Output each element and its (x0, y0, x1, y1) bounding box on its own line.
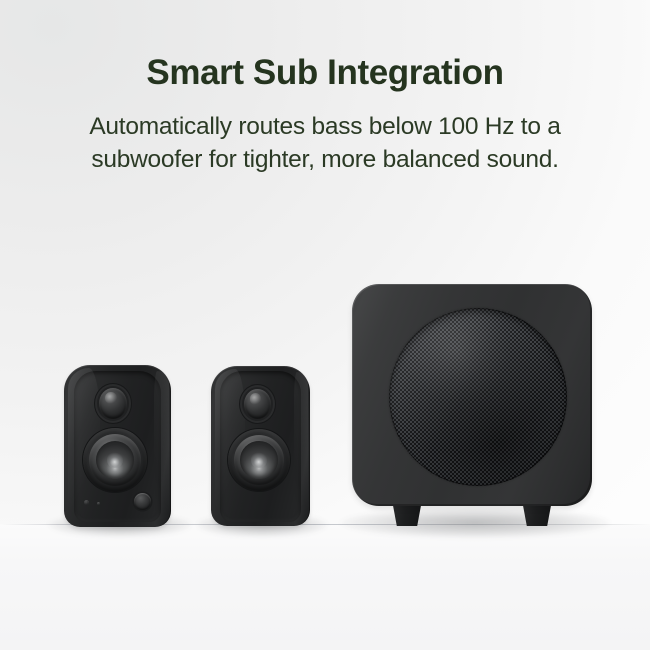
page-subtitle-line-1: Automatically routes bass below 100 Hz t… (18, 110, 632, 143)
product-feature-card: Smart Sub Integration Automatically rout… (0, 0, 650, 650)
right-satellite-speaker (211, 366, 310, 526)
left-speaker-tweeter (99, 388, 127, 419)
right-speaker-woofer (228, 429, 290, 491)
subwoofer-cabinet (352, 284, 592, 506)
left-woofer-dustcap (107, 452, 123, 468)
page-subtitle-line-2: subwoofer for tighter, more balanced sou… (18, 143, 632, 176)
left-woofer-surround (89, 434, 142, 487)
right-speaker-tweeter (244, 389, 271, 419)
headline-block: Smart Sub Integration Automatically rout… (0, 52, 650, 176)
left-woofer-cone (96, 441, 135, 480)
right-woofer-surround (234, 435, 285, 486)
left-satellite-speaker (64, 365, 171, 527)
left-speaker-status-led-2 (97, 502, 100, 505)
page-subtitle: Automatically routes bass below 100 Hz t… (18, 110, 632, 176)
right-woofer-dustcap (251, 452, 266, 467)
page-title: Smart Sub Integration (18, 52, 632, 94)
left-speaker-volume-knob[interactable] (134, 493, 151, 510)
left-speaker-woofer (83, 428, 147, 492)
right-woofer-cone (240, 441, 278, 479)
left-speaker-status-led-1 (84, 500, 89, 505)
subwoofer-grille (389, 308, 567, 486)
floor-plane (0, 524, 650, 650)
subwoofer-grille-shading (389, 308, 567, 486)
